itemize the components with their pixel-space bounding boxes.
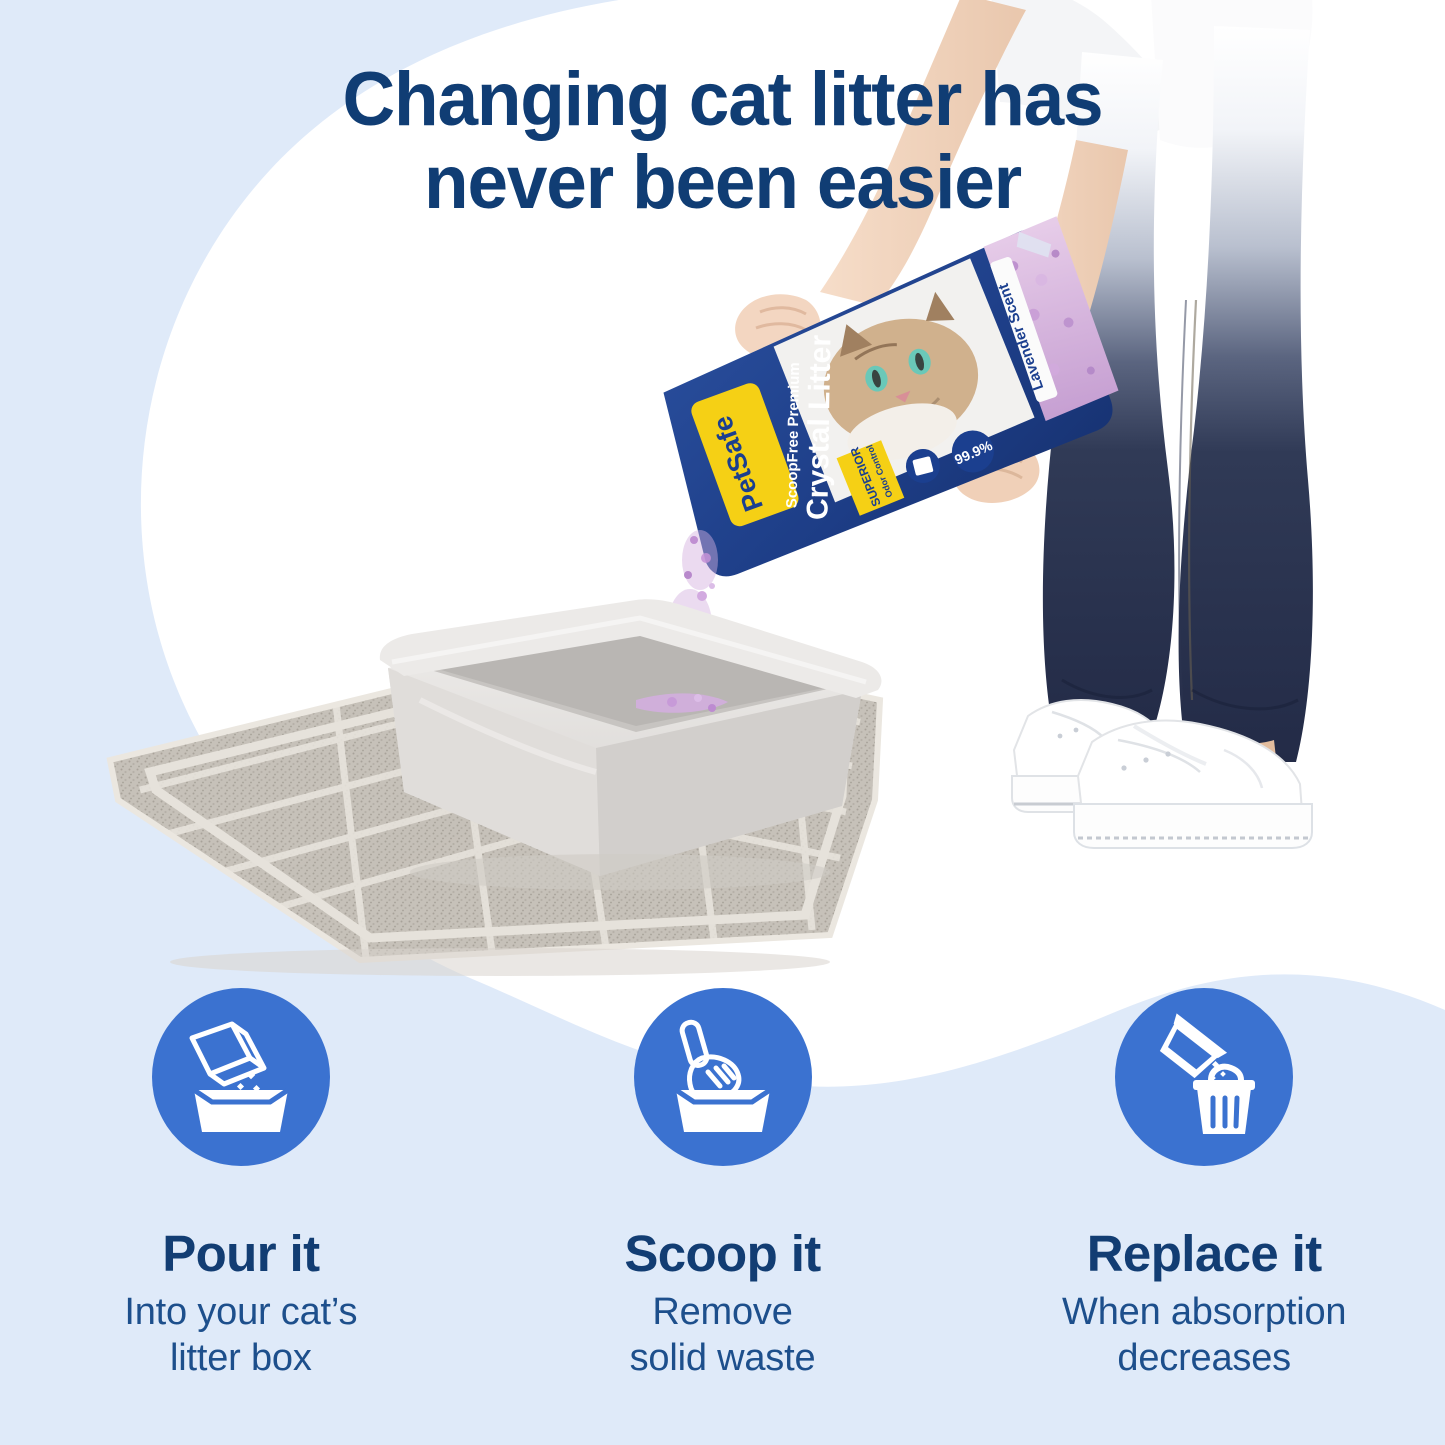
headline-line-1: Changing cat litter has [29,62,1416,137]
step-pour-it-title: Pour it [162,1228,319,1280]
page-title: Changing cat litter has never been easie… [29,62,1416,220]
step-scoop-it-badge[interactable] [634,988,812,1166]
bag-product-text: Crystal Litter [801,334,837,520]
bag-line-text: ScoopFree Premium [784,362,804,508]
step-pour-it-badge[interactable] [152,988,330,1166]
step-replace-it-subtitle: When absorption decreases [1062,1289,1346,1382]
step-replace-it-badge[interactable] [1115,988,1293,1166]
step-scoop-it-title: Scoop it [624,1228,820,1280]
step-scoop-it-subtitle: Remove solid waste [630,1289,816,1382]
headline-line-2: never been easier [29,145,1416,220]
pour-bag-into-litter-box-icon [176,1012,306,1142]
steps-row: Pour it Into your cat’s litter box Scoop… [0,988,1445,1428]
step-replace-it-title: Replace it [1087,1228,1322,1280]
empty-litter-box-into-trash-icon [1139,1012,1269,1142]
step-pour-it[interactable]: Pour it Into your cat’s litter box [0,988,482,1428]
scoop-in-litter-box-icon [658,1012,788,1142]
step-scoop-it[interactable]: Scoop it Remove solid waste [482,988,964,1428]
poster-canvas: Lavender Scent PetSafe ScoopFree Premium… [0,0,1445,1445]
step-replace-it[interactable]: Replace it When absorption decreases [963,988,1445,1428]
step-pour-it-subtitle: Into your cat’s litter box [124,1289,357,1382]
